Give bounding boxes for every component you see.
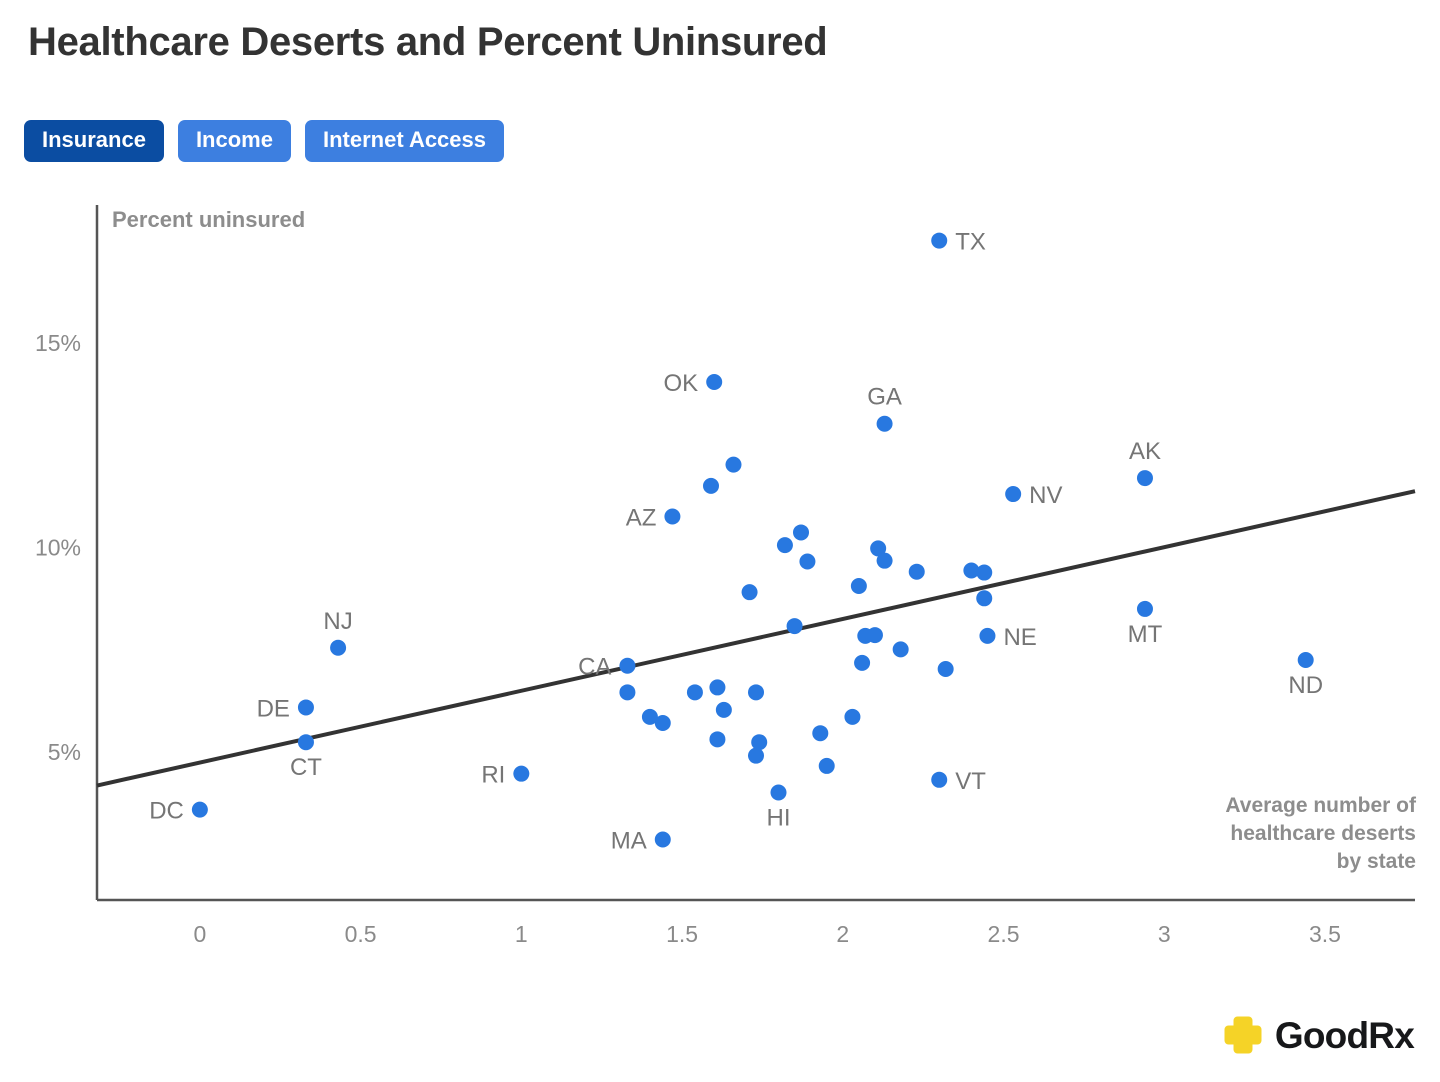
- x-tick-label: 0.5: [345, 921, 377, 947]
- data-point[interactable]: [716, 702, 732, 718]
- data-point-ne[interactable]: [979, 628, 995, 644]
- y-tick-label: 10%: [35, 534, 81, 560]
- data-point[interactable]: [742, 584, 758, 600]
- axis-inner-labels: Percent uninsured: [112, 207, 305, 232]
- point-label-ca: CA: [578, 654, 611, 681]
- point-label-dc: DC: [149, 798, 184, 825]
- data-point[interactable]: [867, 627, 883, 643]
- goodrx-wordmark: GoodRx: [1275, 1017, 1414, 1054]
- x-axis-note-line-2: healthcare deserts: [1086, 820, 1416, 848]
- y-tick-label: 5%: [48, 739, 81, 765]
- y-tick-label: 15%: [35, 330, 81, 356]
- point-label-ak: AK: [1129, 438, 1161, 465]
- data-point[interactable]: [619, 684, 635, 700]
- data-point-nd[interactable]: [1298, 652, 1314, 668]
- data-point[interactable]: [877, 553, 893, 569]
- point-label-tx: TX: [955, 229, 986, 256]
- data-point[interactable]: [748, 684, 764, 700]
- data-point[interactable]: [748, 748, 764, 764]
- data-point[interactable]: [938, 661, 954, 677]
- data-point[interactable]: [709, 731, 725, 747]
- data-point-hi[interactable]: [771, 784, 787, 800]
- data-point-tx[interactable]: [931, 233, 947, 249]
- point-label-ne: NE: [1003, 624, 1036, 651]
- data-point[interactable]: [725, 457, 741, 473]
- data-point[interactable]: [751, 734, 767, 750]
- x-axis-note: Average number of healthcare deserts by …: [1086, 792, 1416, 876]
- point-label-ga: GA: [867, 384, 902, 411]
- point-label-az: AZ: [626, 505, 657, 532]
- x-axis-note-line-1: Average number of: [1086, 792, 1416, 820]
- data-point[interactable]: [976, 565, 992, 581]
- chart-canvas: 00.511.522.533.55%10%15% DCDECTNJRICAMAA…: [0, 0, 1440, 1082]
- data-point-ma[interactable]: [655, 831, 671, 847]
- data-point[interactable]: [909, 564, 925, 580]
- data-point-ak[interactable]: [1137, 470, 1153, 486]
- point-label-nj: NJ: [323, 608, 352, 635]
- point-label-ct: CT: [290, 754, 322, 781]
- point-label-nv: NV: [1029, 482, 1062, 509]
- data-point[interactable]: [787, 618, 803, 634]
- point-label-mt: MT: [1128, 621, 1163, 648]
- data-point[interactable]: [851, 578, 867, 594]
- data-point-dc[interactable]: [192, 802, 208, 818]
- scatter-chart: 00.511.522.533.55%10%15% DCDECTNJRICAMAA…: [0, 0, 1440, 1082]
- goodrx-logo: GoodRx: [1222, 1014, 1414, 1056]
- point-label-ok: OK: [664, 370, 699, 397]
- data-point-ga[interactable]: [877, 416, 893, 432]
- data-point[interactable]: [793, 524, 809, 540]
- data-point[interactable]: [854, 655, 870, 671]
- data-point-ok[interactable]: [706, 374, 722, 390]
- x-tick-label: 3: [1158, 921, 1171, 947]
- data-point[interactable]: [893, 641, 909, 657]
- point-label-hi: HI: [767, 804, 791, 831]
- data-points: [192, 233, 1314, 848]
- data-point-mt[interactable]: [1137, 601, 1153, 617]
- point-label-nd: ND: [1288, 672, 1323, 699]
- data-point[interactable]: [819, 758, 835, 774]
- data-point[interactable]: [844, 709, 860, 725]
- data-point-de[interactable]: [298, 699, 314, 715]
- data-point[interactable]: [799, 553, 815, 569]
- data-point-az[interactable]: [664, 509, 680, 525]
- data-point[interactable]: [812, 725, 828, 741]
- point-label-ma: MA: [611, 827, 647, 854]
- data-point-vt[interactable]: [931, 772, 947, 788]
- x-tick-label: 1.5: [666, 921, 698, 947]
- x-tick-label: 2: [836, 921, 849, 947]
- goodrx-cross-icon: [1222, 1014, 1264, 1056]
- x-tick-label: 2.5: [988, 921, 1020, 947]
- data-point[interactable]: [703, 478, 719, 494]
- x-tick-label: 0: [193, 921, 206, 947]
- point-label-ri: RI: [481, 762, 505, 789]
- point-label-de: DE: [257, 695, 290, 722]
- data-point[interactable]: [687, 684, 703, 700]
- x-tick-label: 3.5: [1309, 921, 1341, 947]
- data-point-ca[interactable]: [619, 658, 635, 674]
- data-point[interactable]: [976, 590, 992, 606]
- data-point-labels: DCDECTNJRICAMAAZOKHIGATXVTNENVMTAKND: [149, 229, 1323, 855]
- data-point[interactable]: [709, 679, 725, 695]
- y-axis-inner-label: Percent uninsured: [112, 207, 305, 232]
- data-point-ri[interactable]: [513, 766, 529, 782]
- data-point[interactable]: [655, 715, 671, 731]
- data-point-nj[interactable]: [330, 640, 346, 656]
- data-point-nv[interactable]: [1005, 486, 1021, 502]
- data-point-ct[interactable]: [298, 734, 314, 750]
- data-point[interactable]: [777, 537, 793, 553]
- x-tick-label: 1: [515, 921, 528, 947]
- point-label-vt: VT: [955, 768, 986, 795]
- x-axis-note-line-3: by state: [1086, 848, 1416, 876]
